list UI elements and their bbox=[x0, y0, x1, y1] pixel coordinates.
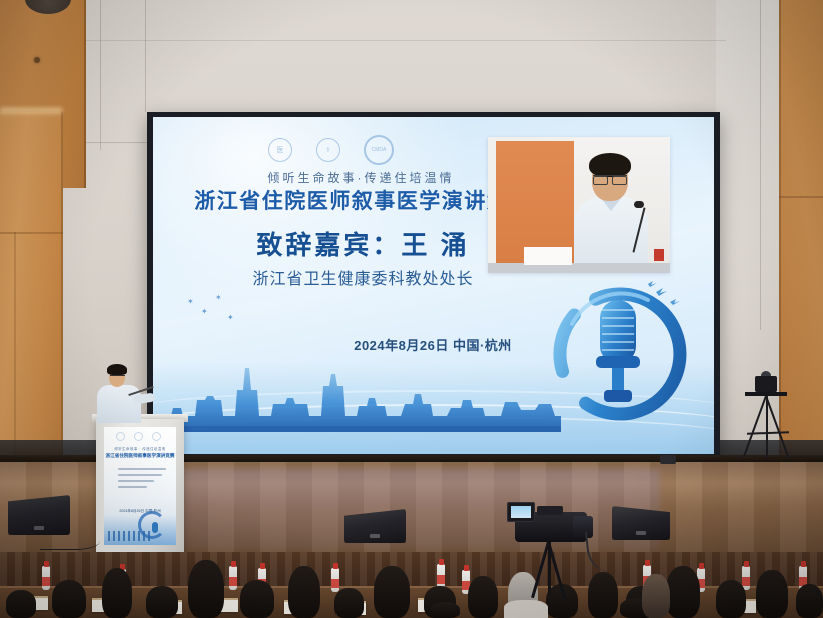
screen-date-city: 2024年8月26日 中国·杭州 bbox=[303, 335, 563, 354]
wood-panel-lower-left bbox=[0, 112, 63, 462]
stage-floor-box bbox=[660, 455, 676, 464]
wall-knob bbox=[34, 57, 40, 63]
camera-cable bbox=[585, 528, 625, 574]
monitor-cable bbox=[40, 527, 100, 550]
video-inset bbox=[488, 137, 670, 273]
podium-sign-skyline bbox=[108, 531, 152, 541]
podium-speaker-hair bbox=[107, 364, 127, 375]
podium-speaker-body bbox=[97, 385, 141, 423]
logo-left-glyph: 医 bbox=[277, 145, 284, 155]
glasses-icon bbox=[110, 375, 125, 380]
wall-panel-joint bbox=[760, 0, 761, 330]
audience-head bbox=[188, 560, 224, 618]
wood-seam-right bbox=[779, 196, 823, 198]
audience-head bbox=[288, 566, 320, 618]
audience-shoulder bbox=[504, 600, 548, 618]
video-camera-hood bbox=[537, 506, 563, 515]
screen-guest-name: 致辞嘉宾：王 涌 bbox=[198, 225, 528, 262]
tripod-leg bbox=[766, 396, 768, 458]
wall-light-glow bbox=[0, 108, 62, 116]
led-screen-bezel: ✶ ✦ ✶ ✦ 医 ⚕ CMDA 倾听生命故事·传递住培温情 浙江省住院医师叙事… bbox=[147, 112, 720, 460]
podium-logo-icon bbox=[152, 432, 161, 441]
bird-icon: ✶ bbox=[215, 293, 222, 302]
tripod-leg bbox=[765, 396, 789, 459]
city-skyline-graphic bbox=[161, 360, 561, 432]
podium-logo-icon bbox=[134, 432, 143, 441]
conference-hall-photo: ✶ ✦ ✶ ✦ 医 ⚕ CMDA 倾听生命故事·传递住培温情 浙江省住院医师叙事… bbox=[0, 0, 823, 618]
audience-head bbox=[642, 574, 670, 618]
logo-right-icon: CMDA bbox=[364, 135, 394, 165]
podium-sign-title: 浙江省住院医师叙事医学演讲竞赛 bbox=[104, 453, 176, 459]
water-bottle bbox=[42, 566, 50, 590]
bird-icon: ✦ bbox=[227, 313, 234, 322]
logo-middle-glyph: ⚕ bbox=[326, 146, 330, 154]
microphone-emblem bbox=[544, 278, 696, 428]
water-bottle bbox=[331, 568, 339, 592]
logo-right-glyph: CMDA bbox=[372, 147, 387, 153]
logo-left-icon: 医 bbox=[268, 138, 292, 162]
audience-head bbox=[102, 568, 132, 618]
audience-head bbox=[146, 586, 178, 618]
podium-sign-logos bbox=[116, 432, 161, 441]
water-bottle bbox=[229, 566, 237, 590]
video-camera-lcd-screen bbox=[507, 502, 535, 522]
podium-sign-date: 2024年8月26日 中国·杭州 bbox=[104, 509, 176, 514]
wall-panel-joint bbox=[100, 0, 101, 150]
audience-head bbox=[6, 590, 36, 618]
tripod-brace bbox=[747, 431, 789, 434]
audience-head bbox=[716, 580, 746, 618]
audience-head bbox=[666, 566, 700, 618]
screen-tagline: 倾听生命故事·传递住培温情 bbox=[211, 169, 511, 186]
ptz-camera-body bbox=[755, 376, 777, 392]
audience-head bbox=[52, 580, 86, 618]
audience-head bbox=[240, 580, 274, 618]
ptz-camera-tripod bbox=[733, 376, 809, 462]
audience-head bbox=[430, 602, 460, 618]
glasses-icon bbox=[593, 175, 627, 183]
led-screen: ✶ ✦ ✶ ✦ 医 ⚕ CMDA 倾听生命故事·传递住培温情 浙江省住院医师叙事… bbox=[153, 117, 714, 454]
podium-sign-tagline: 倾听生命故事 · 传递住培温情 bbox=[104, 446, 176, 451]
audience-head bbox=[756, 570, 788, 618]
video-camera-rig bbox=[503, 500, 599, 600]
water-bottle bbox=[437, 564, 445, 588]
audience-head bbox=[468, 576, 498, 618]
wood-seam-vertical bbox=[14, 232, 16, 462]
inset-speaker-hair bbox=[589, 153, 631, 177]
audience-head bbox=[334, 588, 364, 618]
inset-desk-papers bbox=[524, 247, 572, 265]
screen-guest-role: 浙江省卫生健康委科教处处长 bbox=[198, 265, 528, 289]
microphone-icon bbox=[634, 201, 644, 208]
tripod-leg bbox=[548, 542, 551, 596]
screen-main-title: 浙江省住院医师叙事医学演讲竞赛 bbox=[193, 185, 533, 215]
podium-sign-microphone-icon bbox=[152, 522, 158, 533]
organizer-logos: 医 ⚕ CMDA bbox=[268, 135, 394, 165]
logo-middle-icon: ⚕ bbox=[316, 138, 340, 162]
podium-sign-text-lines bbox=[118, 468, 166, 492]
audience-head bbox=[374, 566, 410, 618]
podium-logo-icon bbox=[116, 432, 125, 441]
inset-desk bbox=[488, 263, 670, 273]
wood-seam-horizontal bbox=[0, 232, 63, 234]
wall-panel-joint bbox=[145, 0, 146, 112]
audience-head bbox=[796, 584, 823, 618]
bird-icon: ✶ bbox=[187, 297, 194, 306]
wall-panel-joint bbox=[86, 40, 726, 41]
podium: 倾听生命故事 · 传递住培温情 浙江省住院医师叙事医学演讲竞赛 2024年8月2… bbox=[96, 419, 184, 553]
tripod-leg bbox=[742, 396, 766, 459]
inset-desk-red-object bbox=[654, 249, 664, 261]
bird-icon: ✦ bbox=[201, 307, 208, 316]
podium-sign: 倾听生命故事 · 传递住培温情 浙江省住院医师叙事医学演讲竞赛 2024年8月2… bbox=[104, 427, 176, 545]
inset-backdrop bbox=[496, 141, 574, 263]
